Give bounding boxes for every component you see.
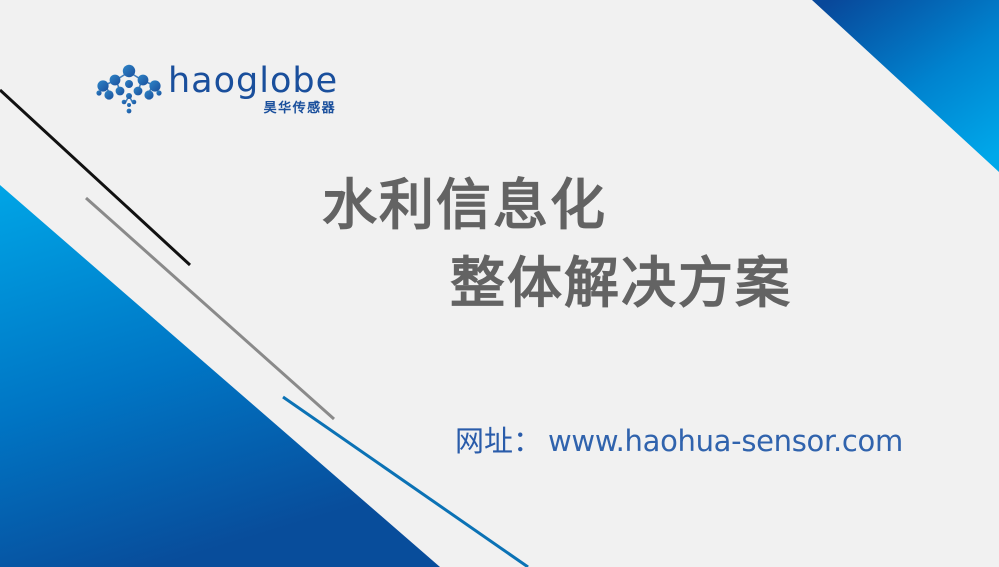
haoglobe-network-dots-icon bbox=[96, 63, 162, 115]
logo-wordmark: haoglobe bbox=[168, 64, 338, 99]
title-line-1: 水利信息化 bbox=[300, 166, 920, 244]
company-logo: haoglobe 昊华传感器 bbox=[96, 58, 326, 120]
slide-canvas: haoglobe 昊华传感器 水利信息化 整体解决方案 网址： www.haoh… bbox=[0, 0, 999, 567]
website-url-value[interactable]: www.haohua-sensor.com bbox=[548, 424, 903, 458]
page-title: 水利信息化 整体解决方案 bbox=[300, 166, 920, 322]
title-line-2: 整体解决方案 bbox=[300, 244, 920, 322]
right-blue-triangle bbox=[812, 0, 999, 172]
logo-subtitle-cn: 昊华传感器 bbox=[264, 102, 337, 115]
gray-diagonal-line bbox=[86, 198, 334, 419]
website-url-label: 网址： bbox=[455, 418, 542, 460]
logo-text-group: haoglobe 昊华传感器 bbox=[168, 64, 338, 115]
website-url[interactable]: 网址： www.haohua-sensor.com bbox=[455, 418, 903, 460]
